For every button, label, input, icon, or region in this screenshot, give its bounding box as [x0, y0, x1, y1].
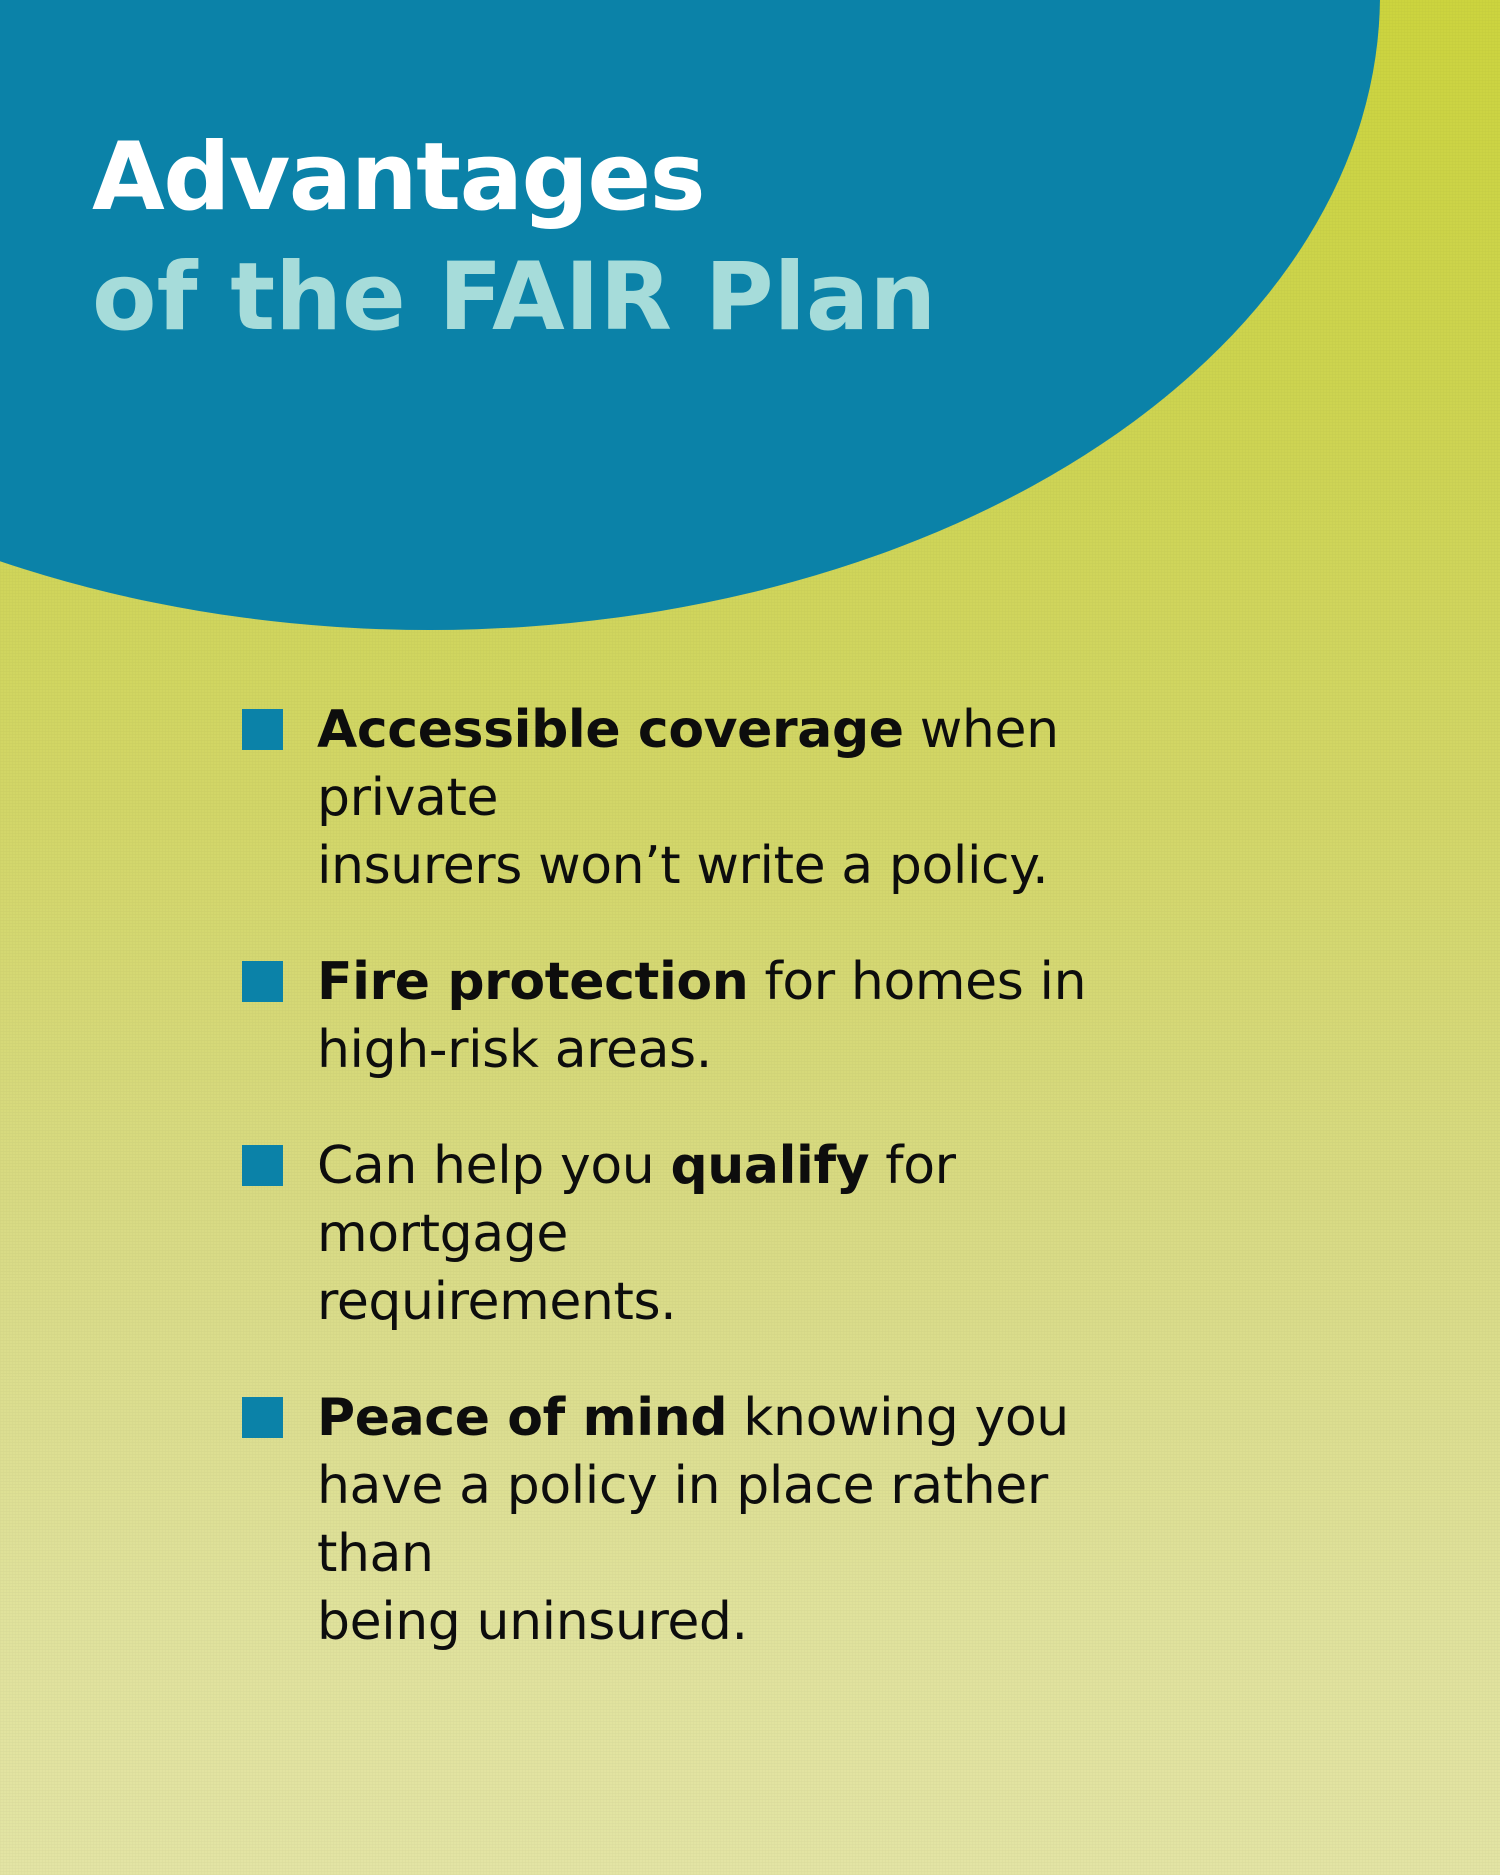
title-line-primary: Advantages: [92, 118, 936, 238]
title-line-secondary: of the FAIR Plan: [92, 238, 936, 358]
list-item: Can help you qualify for mortgage requir…: [242, 1132, 1372, 1336]
list-item: Fire protection for homes in high-risk a…: [242, 948, 1372, 1084]
blue-square-bullet-icon: [242, 1145, 283, 1186]
blue-square-bullet-icon: [242, 961, 283, 1002]
page-title: Advantages of the FAIR Plan: [92, 118, 936, 358]
blue-square-bullet-icon: [242, 1397, 283, 1438]
list-item: Accessible coverage when private insurer…: [242, 696, 1372, 900]
poster-canvas: Advantages of the FAIR Plan Accessible c…: [0, 0, 1500, 1875]
blue-square-bullet-icon: [242, 709, 283, 750]
advantages-list: Accessible coverage when private insurer…: [242, 696, 1372, 1656]
list-item-label-1: Fire protection for homes in high-risk a…: [317, 948, 1107, 1084]
list-item-label-0: Accessible coverage when private insurer…: [317, 696, 1107, 900]
list-item: Peace of mind knowing you have a policy …: [242, 1384, 1372, 1656]
list-item-label-2: Can help you qualify for mortgage requir…: [317, 1132, 1107, 1336]
list-item-label-3: Peace of mind knowing you have a policy …: [317, 1384, 1107, 1656]
